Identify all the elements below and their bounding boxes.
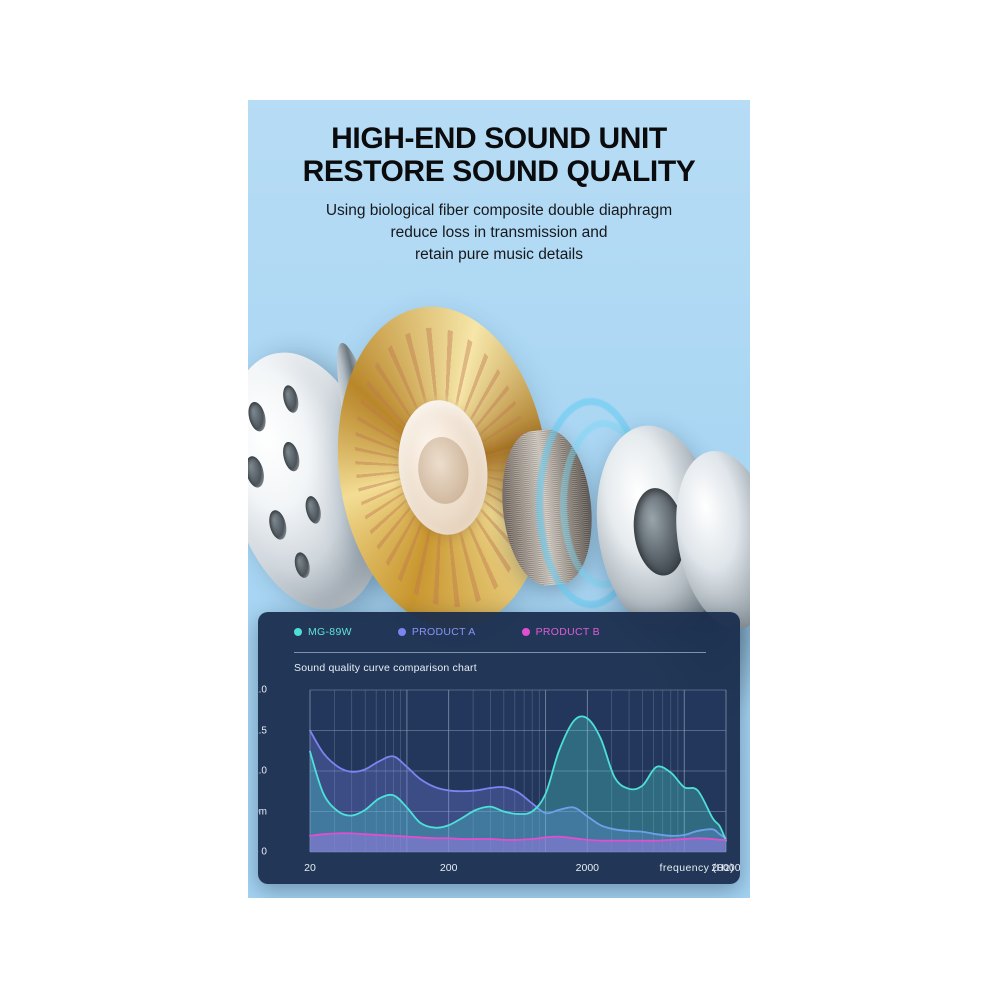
legend-dot-icon	[522, 628, 530, 636]
sound-quality-chart-card: MG-89W PRODUCT A PRODUCT B Sound quality…	[258, 612, 740, 884]
y-axis-tick-label: 1.5	[258, 725, 267, 736]
divider	[294, 652, 706, 653]
subheadline-line-2: reduce loss in transmission and	[248, 222, 750, 244]
page-title: HIGH-END SOUND UNIT RESTORE SOUND QUALIT…	[248, 122, 750, 188]
plate-hole	[248, 400, 268, 433]
legend-label: PRODUCT A	[412, 626, 476, 638]
y-axis-tick-label: 500.0m	[258, 806, 267, 817]
plot-area: (&) 0500.0m1.01.52.0 20200200020000	[272, 686, 728, 858]
x-axis-tick-label: 200	[440, 862, 458, 874]
plate-hole	[303, 494, 323, 525]
plate-hole	[280, 384, 300, 415]
y-axis-tick-label: (&) 0	[258, 847, 267, 858]
plate-hole	[248, 455, 267, 490]
plate-hole	[280, 440, 302, 473]
legend-dot-icon	[294, 628, 302, 636]
headline-line-1: HIGH-END SOUND UNIT	[331, 122, 667, 155]
legend-label: MG-89W	[308, 626, 352, 638]
frequency-response-plot	[272, 686, 728, 858]
plate-hole	[292, 551, 312, 580]
screenshot-root: HIGH-END SOUND UNIT RESTORE SOUND QUALIT…	[0, 0, 1000, 1000]
plate-hole	[266, 508, 289, 541]
x-axis-title: frequency (Hz)	[660, 862, 734, 874]
y-axis-tick-label: 1.0	[258, 766, 267, 777]
product-panel: HIGH-END SOUND UNIT RESTORE SOUND QUALIT…	[248, 100, 750, 898]
chart-title: Sound quality curve comparison chart	[294, 662, 477, 674]
chart-legend: MG-89W PRODUCT A PRODUCT B	[294, 626, 600, 638]
x-axis-tick-label: 20	[304, 862, 316, 874]
legend-item-mg89w: MG-89W	[294, 626, 352, 638]
x-axis-tick-label: 2000	[576, 862, 599, 874]
legend-dot-icon	[398, 628, 406, 636]
legend-item-product-a: PRODUCT A	[398, 626, 476, 638]
legend-item-product-b: PRODUCT B	[522, 626, 600, 638]
y-axis-tick-label: 2.0	[258, 685, 267, 696]
headline-line-2: RESTORE SOUND QUALITY	[248, 155, 750, 188]
subheadline-line-1: Using biological fiber composite double …	[248, 200, 750, 222]
legend-label: PRODUCT B	[536, 626, 600, 638]
